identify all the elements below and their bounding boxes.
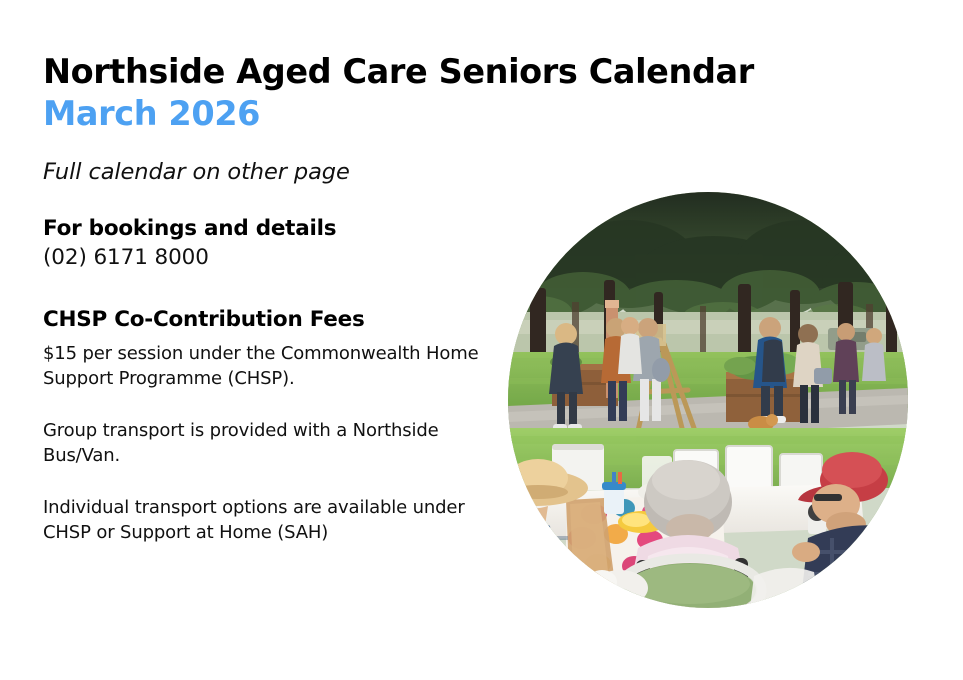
text-column: Northside Aged Care Seniors Calendar Mar…	[43, 52, 503, 546]
bookings-section: For bookings and details (02) 6171 8000	[43, 215, 503, 272]
fees-section: CHSP Co-Contribution Fees $15 per sessio…	[43, 306, 503, 392]
individual-transport-text: Individual transport options are availab…	[43, 495, 503, 546]
page-title: Northside Aged Care Seniors Calendar	[43, 52, 503, 93]
poster-page: Northside Aged Care Seniors Calendar Mar…	[0, 0, 963, 680]
bookings-phone[interactable]: (02) 6171 8000	[43, 244, 503, 272]
bookings-heading: For bookings and details	[43, 215, 503, 243]
fees-heading: CHSP Co-Contribution Fees	[43, 306, 503, 334]
month-heading: March 2026	[43, 94, 503, 135]
park-activity-photo	[508, 192, 908, 608]
group-transport-text: Group transport is provided with a North…	[43, 418, 503, 469]
photo-illustration	[508, 192, 908, 608]
subtitle-note: Full calendar on other page	[43, 159, 503, 185]
fees-body: $15 per session under the Commonwealth H…	[43, 341, 503, 392]
